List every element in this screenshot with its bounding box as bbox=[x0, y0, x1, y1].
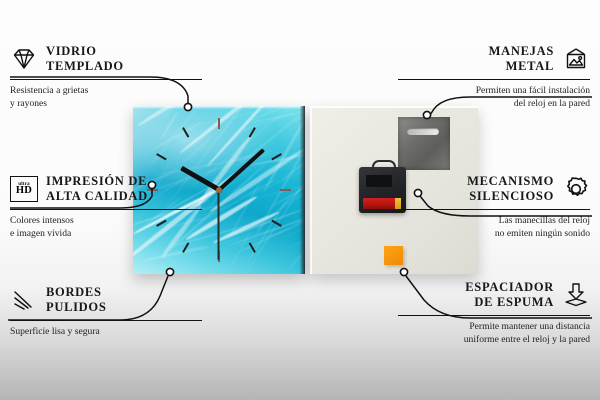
feature-description: Resistencia a grietas y rayones bbox=[10, 85, 202, 111]
clock-second-hand bbox=[218, 190, 220, 260]
feature-rule bbox=[10, 209, 202, 211]
feature-description: Permiten una fácil instalación del reloj… bbox=[398, 85, 590, 111]
feature-bordes-pulidos: BORDES PULIDOS Superficie lisa y segura bbox=[10, 285, 202, 339]
metal-hanger-plate bbox=[398, 117, 450, 170]
hanger-keyhole-slot bbox=[407, 128, 439, 135]
picture-hanger-icon bbox=[562, 45, 590, 73]
feature-manejas-metal: MANEJAS METAL Permiten una fácil instala… bbox=[398, 44, 590, 111]
feature-description: Superficie lisa y segura bbox=[10, 326, 202, 339]
feature-vidrio-templado: VIDRIO TEMPLADO Resistencia a grietas y … bbox=[10, 44, 202, 111]
feature-title: VIDRIO TEMPLADO bbox=[46, 44, 124, 74]
foam-spacer-icon bbox=[562, 281, 590, 309]
feature-description: Colores intensos e imagen vívida bbox=[10, 215, 202, 241]
foam-spacer bbox=[384, 246, 403, 265]
feature-rule bbox=[398, 209, 590, 211]
clock-center-pin bbox=[216, 187, 222, 193]
feature-title: IMPRESIÓN DE ALTA CALIDAD bbox=[46, 174, 148, 204]
ultra-hd-icon: ultra HD bbox=[10, 175, 38, 203]
panel-right-edge bbox=[300, 106, 305, 274]
feature-title: ESPACIADOR DE ESPUMA bbox=[465, 280, 554, 310]
feature-impresion-alta-calidad: ultra HD IMPRESIÓN DE ALTA CALIDAD Color… bbox=[10, 174, 202, 241]
feature-title: BORDES PULIDOS bbox=[46, 285, 106, 315]
feature-description: Permite mantener una distancia uniforme … bbox=[398, 321, 590, 347]
polished-edges-icon bbox=[10, 286, 38, 314]
mechanism-hanger-loop bbox=[372, 160, 396, 171]
feature-rule bbox=[10, 79, 202, 81]
back-panel-left-lip bbox=[310, 106, 312, 274]
feature-rule bbox=[398, 315, 590, 317]
feature-title: MANEJAS METAL bbox=[489, 44, 554, 74]
feature-title: MECANISMO SILENCIOSO bbox=[467, 174, 554, 204]
feature-description: Las manecillas del reloj no emiten ningú… bbox=[398, 215, 590, 241]
feature-rule bbox=[10, 320, 202, 322]
gear-icon bbox=[562, 175, 590, 203]
feature-rule bbox=[398, 79, 590, 81]
feature-espaciador-espuma: ESPACIADOR DE ESPUMA Permite mantener un… bbox=[398, 280, 590, 347]
battery bbox=[363, 198, 401, 209]
infographic-stage: VIDRIO TEMPLADO Resistencia a grietas y … bbox=[0, 0, 600, 400]
mechanism-detail bbox=[366, 175, 392, 187]
diamond-icon bbox=[10, 45, 38, 73]
feature-mecanismo-silencioso: MECANISMO SILENCIOSO Las manecillas del … bbox=[398, 174, 590, 241]
